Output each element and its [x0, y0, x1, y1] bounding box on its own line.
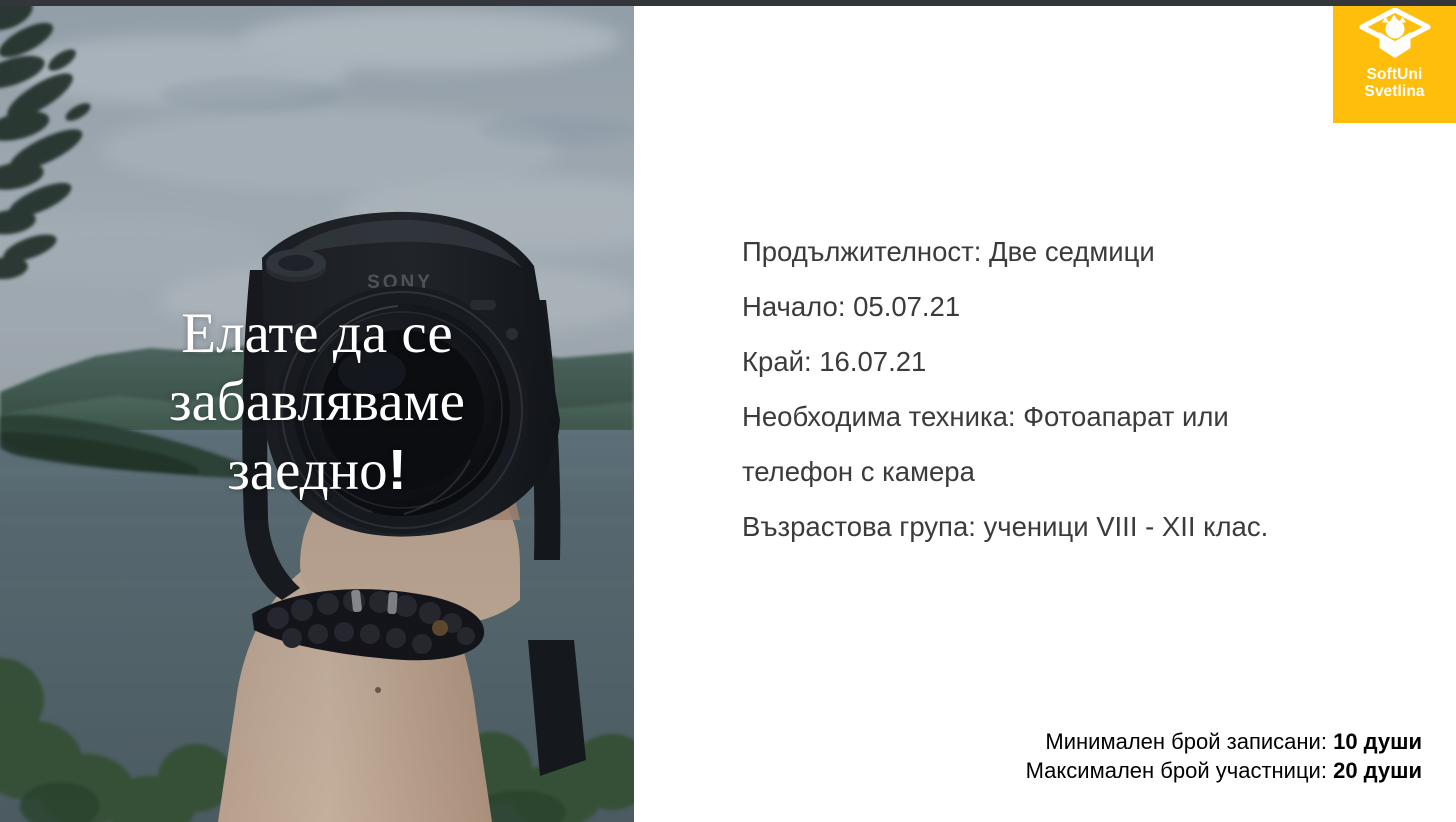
capacity-minimum: Минимален брой записани: 10 души: [1026, 727, 1422, 756]
detail-start-date: Начало: 05.07.21: [742, 279, 1402, 334]
course-details-list: Продължителност: Две седмици Начало: 05.…: [742, 224, 1402, 554]
logo-brand-line-2: Svetlina: [1364, 83, 1424, 100]
headline-line-3-text: заедно: [227, 439, 387, 502]
detail-duration: Продължителност: Две седмици: [742, 224, 1402, 279]
content-panel: Продължителност: Две седмици Начало: 05.…: [634, 0, 1456, 822]
softuni-svetlina-logo-badge: SoftUni Svetlina: [1333, 0, 1456, 123]
detail-equipment-line-1: Необходима техника: Фотоапарат или: [742, 389, 1402, 444]
top-accent-strip: [0, 0, 1456, 6]
capacity-maximum-label: Максимален брой участници:: [1026, 758, 1333, 783]
presentation-slide: SONY Елате да се забавляваме заед: [0, 0, 1456, 822]
detail-equipment-line-2: телефон с камера: [742, 444, 1402, 499]
capacity-maximum-value: 20 души: [1333, 758, 1422, 783]
headline-line-1: Елате да се: [28, 300, 606, 368]
graduation-cap-sun-icon: [1358, 8, 1432, 62]
headline-exclamation: !: [388, 438, 407, 502]
capacity-maximum: Максимален брой участници: 20 души: [1026, 756, 1422, 785]
photo-panel: SONY Елате да се забавляваме заед: [0, 0, 634, 822]
detail-age-group: Възрастова група: ученици VIII - XII кла…: [742, 499, 1402, 554]
headline-line-3: заедно!: [28, 436, 606, 505]
capacity-minimum-value: 10 души: [1333, 729, 1422, 754]
photo-headline: Елате да се забавляваме заедно!: [0, 300, 634, 505]
detail-end-date: Край: 16.07.21: [742, 334, 1402, 389]
logo-wordmark: SoftUni Svetlina: [1364, 66, 1424, 100]
headline-line-2: забавляваме: [28, 368, 606, 436]
capacity-block: Минимален брой записани: 10 души Максима…: [1026, 727, 1422, 785]
logo-brand-line-1: SoftUni: [1364, 66, 1424, 83]
capacity-minimum-label: Минимален брой записани:: [1045, 729, 1333, 754]
